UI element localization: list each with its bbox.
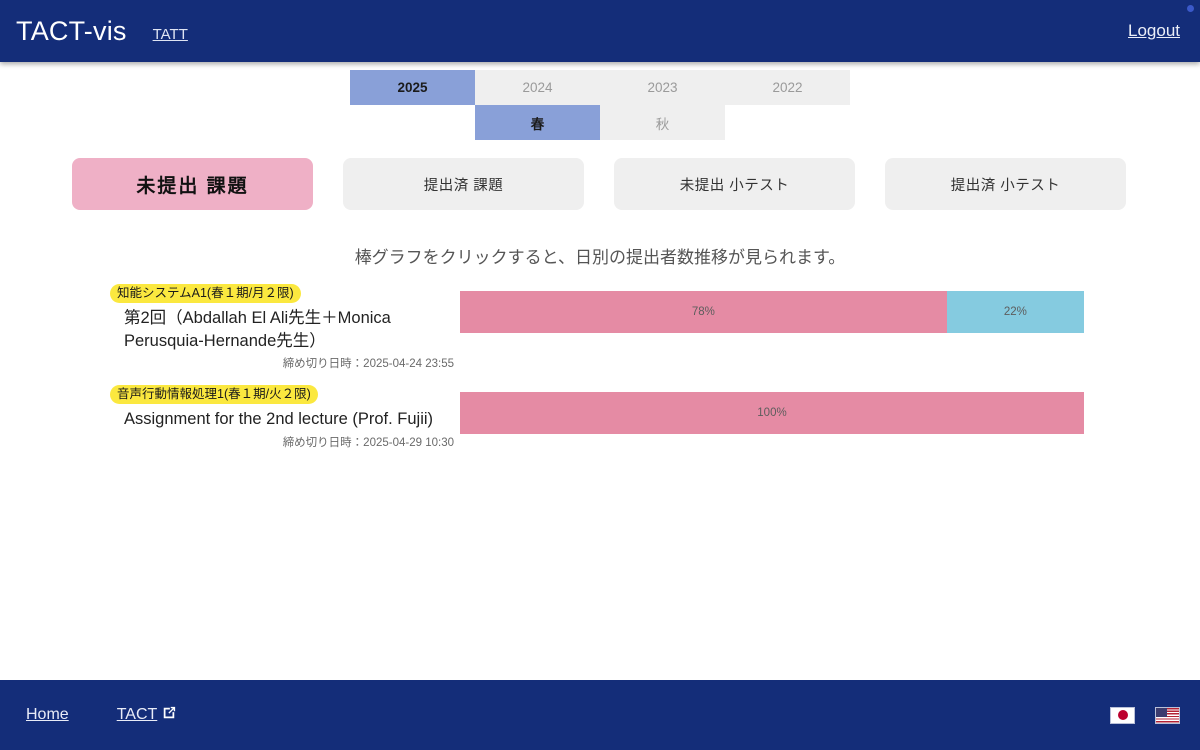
usa-flag-canton	[1156, 708, 1167, 717]
footer-tact-link[interactable]: TACT	[117, 706, 177, 725]
course-badge: 音声行動情報処理1(春１期/火２限)	[110, 385, 318, 404]
app-header: TACT-vis TATT Logout	[0, 0, 1200, 62]
japan-flag-icon[interactable]	[1110, 707, 1135, 724]
course-badge: 知能システムA1(春１期/月２限)	[110, 284, 301, 303]
assignment-deadline: 締め切り日時：2025-04-29 10:30	[110, 434, 454, 450]
assignment-title: 第2回（Abdallah El Ali先生＋Monica Perusquia-H…	[110, 307, 454, 352]
stacked-bar-chart[interactable]: 100%	[460, 392, 1084, 434]
season-tab-spring[interactable]: 春	[475, 105, 600, 140]
logout-link[interactable]: Logout	[1128, 21, 1180, 41]
category-tab-row: 未提出 課題 提出済 課題 未提出 小テスト 提出済 小テスト	[72, 158, 1128, 210]
year-tab-2024[interactable]: 2024	[475, 70, 600, 105]
app-brand-title: TACT-vis	[16, 16, 127, 47]
tab-submitted-quizzes[interactable]: 提出済 小テスト	[885, 158, 1126, 210]
bar-segment-unsubmitted[interactable]: 100%	[460, 392, 1084, 434]
tab-unsubmitted-assignments[interactable]: 未提出 課題	[72, 158, 313, 210]
bar-segment-submitted[interactable]: 22%	[947, 291, 1084, 333]
assignment-title: Assignment for the 2nd lecture (Prof. Fu…	[110, 408, 454, 430]
year-tab-row: 2025 2024 2023 2022	[350, 70, 850, 105]
assignment-bar-area: 100%	[460, 392, 1084, 434]
tab-unsubmitted-quizzes[interactable]: 未提出 小テスト	[614, 158, 855, 210]
list-item: 音声行動情報処理1(春１期/火２限) Assignment for the 2n…	[0, 385, 1200, 450]
assignment-info: 音声行動情報処理1(春１期/火２限) Assignment for the 2n…	[110, 385, 460, 450]
list-item: 知能システムA1(春１期/月２限) 第2回（Abdallah El Ali先生＋…	[0, 284, 1200, 371]
season-tab-autumn[interactable]: 秋	[600, 105, 725, 140]
assignment-list: 知能システムA1(春１期/月２限) 第2回（Abdallah El Ali先生＋…	[0, 284, 1200, 464]
usa-flag-icon[interactable]	[1155, 707, 1180, 724]
chart-hint-text: 棒グラフをクリックすると、日別の提出者数推移が見られます。	[0, 243, 1200, 268]
stacked-bar-chart[interactable]: 78% 22%	[460, 291, 1084, 333]
notification-dot-icon	[1187, 5, 1194, 12]
footer-tact-label: TACT	[117, 706, 158, 724]
app-footer: Home TACT	[0, 680, 1200, 750]
tatt-link[interactable]: TATT	[153, 26, 188, 43]
season-tab-row: 春 秋	[475, 105, 850, 140]
assignment-bar-area: 78% 22%	[460, 291, 1084, 333]
year-tab-2025[interactable]: 2025	[350, 70, 475, 105]
tab-submitted-assignments[interactable]: 提出済 課題	[343, 158, 584, 210]
year-tab-2023[interactable]: 2023	[600, 70, 725, 105]
external-link-icon	[162, 706, 176, 725]
bar-segment-unsubmitted[interactable]: 78%	[460, 291, 947, 333]
assignment-info: 知能システムA1(春１期/月２限) 第2回（Abdallah El Ali先生＋…	[110, 284, 460, 371]
period-selector: 2025 2024 2023 2022 春 秋	[350, 70, 850, 140]
footer-home-link[interactable]: Home	[26, 706, 69, 724]
year-tab-2022[interactable]: 2022	[725, 70, 850, 105]
assignment-deadline: 締め切り日時：2025-04-24 23:55	[110, 355, 454, 371]
